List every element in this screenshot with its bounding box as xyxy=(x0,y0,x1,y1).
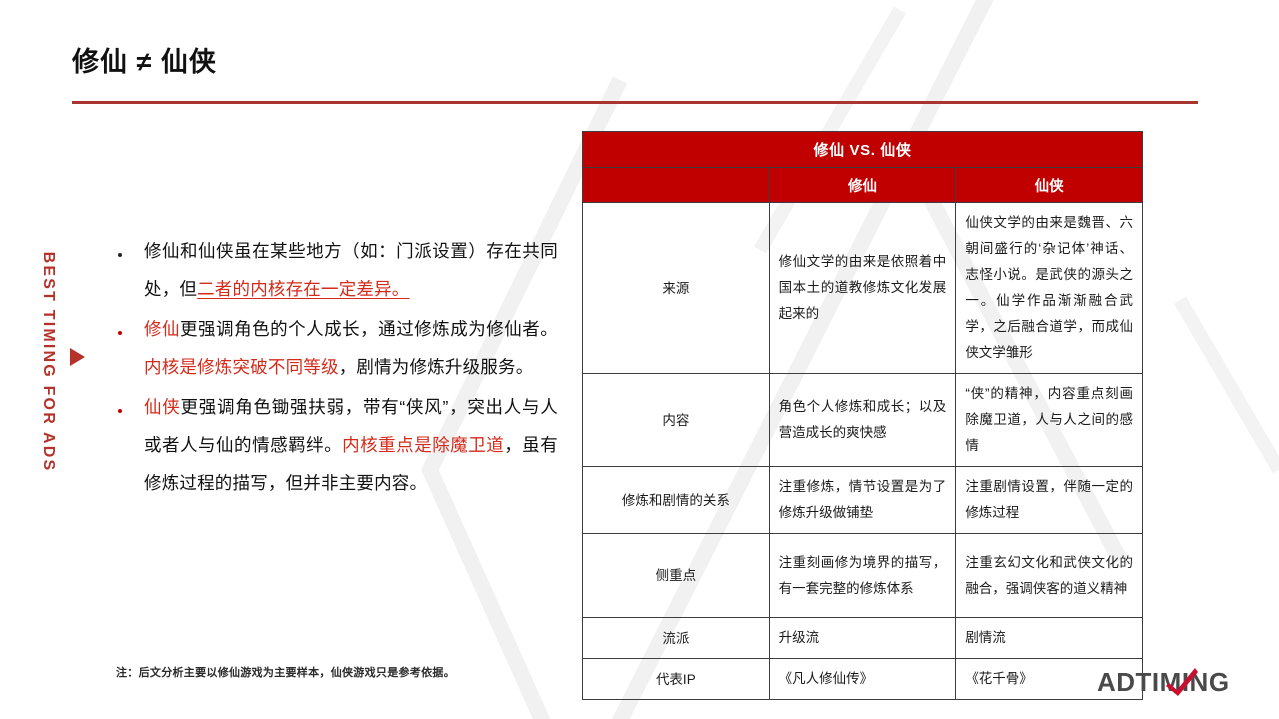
table-header-row: 修仙 仙侠 xyxy=(583,168,1143,203)
bullet-segment-highlight: 仙侠 xyxy=(144,397,181,417)
column-header-xiuxian: 修仙 xyxy=(769,168,956,203)
side-label-text: BEST TIMING FOR ADS xyxy=(39,252,57,473)
list-item: 修仙和仙侠虽在某些地方（如：门派设置）存在共同处，但二者的内核存在一定差异。 xyxy=(118,232,558,308)
bullet-dot-icon xyxy=(118,310,144,338)
play-triangle-icon xyxy=(70,348,85,366)
table-row: 来源 修仙文学的由来是依照着中国本土的道教修炼文化发展起来的 仙侠文学的由来是魏… xyxy=(583,203,1143,374)
cell-xianxia: 剧情流 xyxy=(956,618,1143,659)
table-row: 侧重点 注重刻画修为境界的描写，有一套完整的修炼体系 注重玄幻文化和武侠文化的融… xyxy=(583,534,1143,618)
list-item: 仙侠更强调角色锄强扶弱，带有“侠风”，突出人与人或者人与仙的情感羁绊。内核重点是… xyxy=(118,388,558,502)
title-divider xyxy=(72,101,1198,104)
page-title: 修仙 ≠ 仙侠 xyxy=(72,46,217,78)
bullet-text: 修仙更强调角色的个人成长，通过修炼成为修仙者。内核是修炼突破不同等级，剧情为修炼… xyxy=(144,310,558,386)
logo-wordmark: ADTIMING xyxy=(1097,667,1230,697)
table-corner-cell xyxy=(583,168,770,203)
list-item: 修仙更强调角色的个人成长，通过修炼成为修仙者。内核是修炼突破不同等级，剧情为修炼… xyxy=(118,310,558,386)
cell-xianxia: 注重剧情设置，伴随一定的修炼过程 xyxy=(956,467,1143,534)
bullet-text: 修仙和仙侠虽在某些地方（如：门派设置）存在共同处，但二者的内核存在一定差异。 xyxy=(144,232,558,308)
bullet-segment-highlight: 内核是修炼突破不同等级 xyxy=(144,357,339,377)
row-label: 内容 xyxy=(583,374,770,467)
row-label: 来源 xyxy=(583,203,770,374)
row-label: 修炼和剧情的关系 xyxy=(583,467,770,534)
table-title: 修仙 VS. 仙侠 xyxy=(583,132,1143,168)
bullet-segment-highlight: 二者的内核存在一定差异。 xyxy=(197,279,409,299)
page-title-block: 修仙 ≠ 仙侠 xyxy=(72,46,217,78)
bullet-segment-highlight: 内核重点是除魔卫道 xyxy=(342,435,504,455)
table-title-row: 修仙 VS. 仙侠 xyxy=(583,132,1143,168)
bullet-dot-icon xyxy=(118,232,144,260)
side-label-container: BEST TIMING FOR ADS xyxy=(28,228,68,496)
table-row: 代表IP 《凡人修仙传》 《花千骨》 xyxy=(583,659,1143,700)
cell-xiuxian: 注重刻画修为境界的描写，有一套完整的修炼体系 xyxy=(769,534,956,618)
cell-xianxia: “侠”的精神，内容重点刻画除魔卫道，人与人之间的感情 xyxy=(956,374,1143,467)
cell-xianxia: 注重玄幻文化和武侠文化的融合，强调侠客的道义精神 xyxy=(956,534,1143,618)
cell-xiuxian: 修仙文学的由来是依照着中国本土的道教修炼文化发展起来的 xyxy=(769,203,956,374)
bullet-segment-highlight: 修仙 xyxy=(144,319,180,339)
cell-xiuxian: 角色个人修炼和成长；以及营造成长的爽快感 xyxy=(769,374,956,467)
cell-xiuxian: 升级流 xyxy=(769,618,956,659)
cell-xiuxian: 注重修炼，情节设置是为了修炼升级做铺垫 xyxy=(769,467,956,534)
adtiming-logo: ADTIMING xyxy=(1095,661,1247,701)
table-row: 流派 升级流 剧情流 xyxy=(583,618,1143,659)
footnote: 注：后文分析主要以修仙游戏为主要样本，仙侠游戏只是参考依据。 xyxy=(116,664,455,680)
column-header-xianxia: 仙侠 xyxy=(956,168,1143,203)
cell-xianxia: 仙侠文学的由来是魏晋、六朝间盛行的‘杂记体’神话、志怪小说。是武侠的源头之一。仙… xyxy=(956,203,1143,374)
row-label: 流派 xyxy=(583,618,770,659)
table-row: 修炼和剧情的关系 注重修炼，情节设置是为了修炼升级做铺垫 注重剧情设置，伴随一定… xyxy=(583,467,1143,534)
bullet-segment: ，剧情为修炼升级服务。 xyxy=(339,357,534,377)
table-row: 内容 角色个人修炼和成长；以及营造成长的爽快感 “侠”的精神，内容重点刻画除魔卫… xyxy=(583,374,1143,467)
bullet-list: 修仙和仙侠虽在某些地方（如：门派设置）存在共同处，但二者的内核存在一定差异。 修… xyxy=(118,232,558,504)
bullet-segment: 更强调角色的个人成长，通过修炼成为修仙者。 xyxy=(180,319,558,339)
bullet-dot-icon xyxy=(118,388,144,416)
comparison-table: 修仙 VS. 仙侠 修仙 仙侠 来源 修仙文学的由来是依照着中国本土的道教修炼文… xyxy=(582,131,1143,700)
row-label: 侧重点 xyxy=(583,534,770,618)
row-label: 代表IP xyxy=(583,659,770,700)
bullet-text: 仙侠更强调角色锄强扶弱，带有“侠风”，突出人与人或者人与仙的情感羁绊。内核重点是… xyxy=(144,388,558,502)
cell-xiuxian: 《凡人修仙传》 xyxy=(769,659,956,700)
